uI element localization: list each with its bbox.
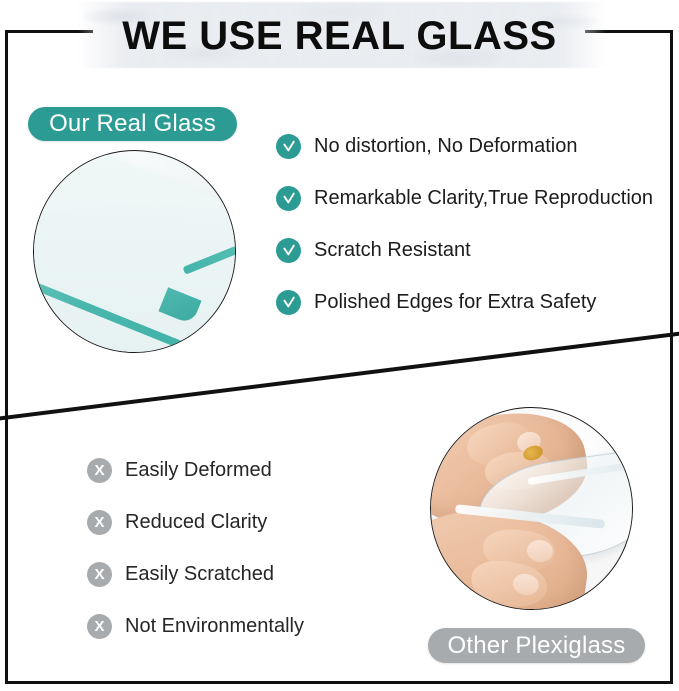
feature-row: X Easily Scratched xyxy=(87,561,487,587)
photo-plexiglass xyxy=(430,407,633,610)
feature-label: Easily Deformed xyxy=(125,458,272,482)
badge-our-real-glass-label: Our Real Glass xyxy=(49,110,216,138)
x-icon: X xyxy=(87,510,112,535)
page-title: WE USE REAL GLASS xyxy=(0,14,679,58)
check-icon xyxy=(276,238,301,263)
feature-list-plexiglass: X Easily Deformed X Reduced Clarity X Ea… xyxy=(87,457,487,639)
x-icon: X xyxy=(87,562,112,587)
frame-border-bottom xyxy=(5,681,673,684)
feature-row: Scratch Resistant xyxy=(276,237,676,263)
photo-real-glass xyxy=(33,150,236,353)
x-icon-glyph: X xyxy=(94,515,104,530)
check-icon xyxy=(276,290,301,315)
feature-label: Remarkable Clarity,True Reproduction xyxy=(314,186,653,210)
feature-row: X Reduced Clarity xyxy=(87,509,487,535)
product-comparison-infographic: WE USE REAL GLASS Our Real Glass No dist… xyxy=(0,0,679,691)
x-icon: X xyxy=(87,458,112,483)
badge-other-plexiglass: Other Plexiglass xyxy=(428,628,645,663)
x-icon: X xyxy=(87,614,112,639)
badge-our-real-glass: Our Real Glass xyxy=(28,107,237,141)
x-icon-glyph: X xyxy=(94,619,104,634)
feature-row: Remarkable Clarity,True Reproduction xyxy=(276,185,676,211)
x-icon-glyph: X xyxy=(94,463,104,478)
badge-other-plexiglass-label: Other Plexiglass xyxy=(448,632,626,660)
feature-label: Not Environmentally xyxy=(125,614,304,638)
frame-border-right xyxy=(670,30,673,684)
feature-row: No distortion, No Deformation xyxy=(276,133,676,159)
feature-label: No distortion, No Deformation xyxy=(314,134,577,158)
feature-row: X Easily Deformed xyxy=(87,457,487,483)
feature-list-real-glass: No distortion, No Deformation Remarkable… xyxy=(276,133,676,315)
x-icon-glyph: X xyxy=(94,567,104,582)
feature-row: Polished Edges for Extra Safety xyxy=(276,289,676,315)
feature-label: Reduced Clarity xyxy=(125,510,267,534)
check-icon xyxy=(276,134,301,159)
feature-label: Scratch Resistant xyxy=(314,238,471,262)
check-icon xyxy=(276,186,301,211)
feature-row: X Not Environmentally xyxy=(87,613,487,639)
feature-label: Polished Edges for Extra Safety xyxy=(314,290,596,314)
feature-label: Easily Scratched xyxy=(125,562,274,586)
frame-border-left xyxy=(5,30,8,684)
